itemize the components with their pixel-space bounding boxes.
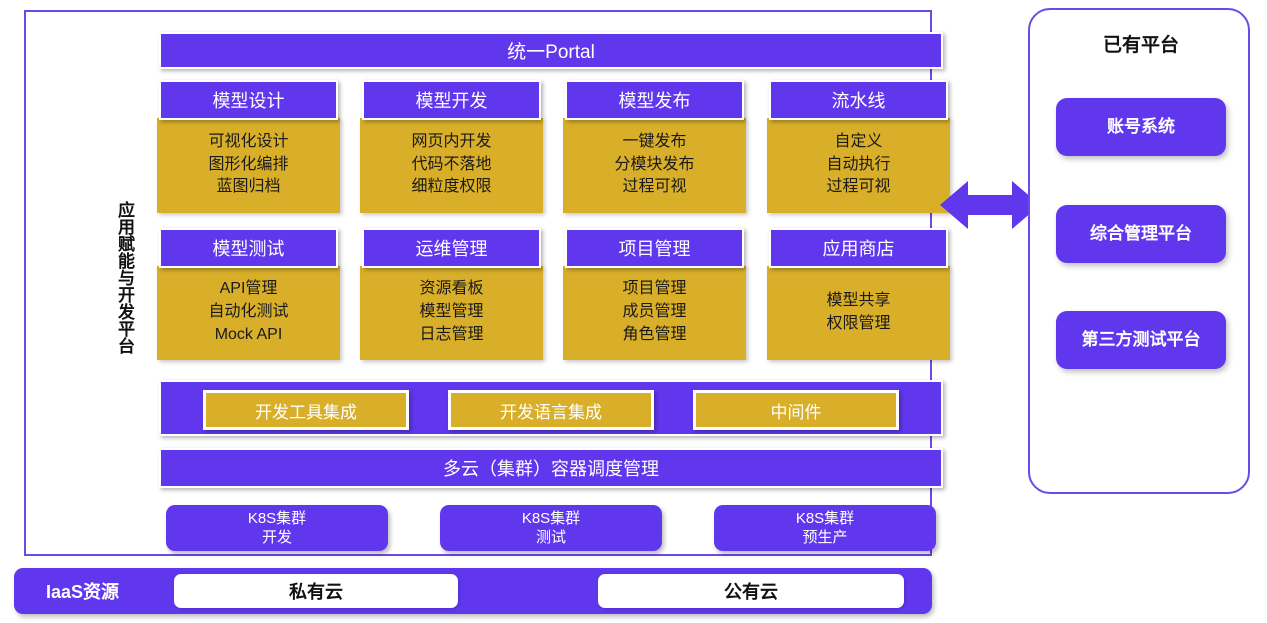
k8s-line2: 测试 bbox=[536, 528, 566, 548]
card-item: 过程可视 bbox=[622, 176, 686, 199]
iaas-private-cloud[interactable]: 私有云 bbox=[174, 574, 458, 608]
iaas-resource-bar: IaaS资源 私有云 公有云 bbox=[14, 568, 932, 614]
card-ops-management[interactable]: 运维管理 资源看板 模型管理 日志管理 bbox=[362, 228, 541, 360]
existing-platform-title: 已有平台 bbox=[1030, 30, 1252, 57]
k8s-line1: K8S集群 bbox=[522, 509, 580, 529]
card-item: 模型共享 bbox=[826, 290, 890, 313]
k8s-cluster-dev[interactable]: K8S集群 开发 bbox=[166, 505, 388, 551]
card-app-store[interactable]: 应用商店 模型共享 权限管理 bbox=[769, 228, 948, 360]
card-body: 一键发布 分模块发布 过程可视 bbox=[563, 118, 746, 213]
card-body: 自定义 自动执行 过程可视 bbox=[767, 118, 950, 213]
card-item: 权限管理 bbox=[826, 313, 890, 336]
k8s-line1: K8S集群 bbox=[248, 509, 306, 529]
card-project-management[interactable]: 项目管理 项目管理 成员管理 角色管理 bbox=[565, 228, 744, 360]
card-title: 模型设计 bbox=[159, 80, 338, 120]
card-title: 模型发布 bbox=[565, 80, 744, 120]
card-item: 网页内开发 bbox=[411, 131, 491, 154]
unified-portal-bar[interactable]: 统一Portal bbox=[159, 32, 943, 69]
card-item: 角色管理 bbox=[622, 324, 686, 347]
card-model-release[interactable]: 模型发布 一键发布 分模块发布 过程可视 bbox=[565, 80, 744, 213]
card-title: 应用商店 bbox=[769, 228, 948, 268]
card-item: 日志管理 bbox=[419, 324, 483, 347]
platform-frame: 应用赋能与开发平台 统一Portal 模型设计 可视化设计 图形化编排 蓝图归档… bbox=[24, 10, 932, 556]
card-title: 运维管理 bbox=[362, 228, 541, 268]
card-item: 自动化测试 bbox=[208, 301, 288, 324]
card-item: 自定义 bbox=[834, 131, 882, 154]
card-item: 模型管理 bbox=[419, 301, 483, 324]
multicloud-scheduling-bar[interactable]: 多云（集群）容器调度管理 bbox=[159, 448, 943, 488]
card-item: 过程可视 bbox=[826, 176, 890, 199]
integration-middleware[interactable]: 中间件 bbox=[693, 390, 899, 430]
card-item: 资源看板 bbox=[419, 278, 483, 301]
card-model-test[interactable]: 模型测试 API管理 自动化测试 Mock API bbox=[159, 228, 338, 360]
card-item: 代码不落地 bbox=[411, 154, 491, 177]
existing-platform-management[interactable]: 综合管理平台 bbox=[1056, 205, 1226, 263]
card-model-development[interactable]: 模型开发 网页内开发 代码不落地 细粒度权限 bbox=[362, 80, 541, 213]
card-body: 资源看板 模型管理 日志管理 bbox=[360, 266, 543, 360]
existing-platform-third-party-test[interactable]: 第三方测试平台 bbox=[1056, 311, 1226, 369]
card-body: 网页内开发 代码不落地 细粒度权限 bbox=[360, 118, 543, 213]
k8s-cluster-preprod[interactable]: K8S集群 预生产 bbox=[714, 505, 936, 551]
integration-dev-languages[interactable]: 开发语言集成 bbox=[448, 390, 654, 430]
integration-dev-tools[interactable]: 开发工具集成 bbox=[203, 390, 409, 430]
card-item: 分模块发布 bbox=[614, 154, 694, 177]
card-title: 流水线 bbox=[769, 80, 948, 120]
existing-platform-account-system[interactable]: 账号系统 bbox=[1056, 98, 1226, 156]
k8s-cluster-test[interactable]: K8S集群 测试 bbox=[440, 505, 662, 551]
architecture-diagram: 应用赋能与开发平台 统一Portal 模型设计 可视化设计 图形化编排 蓝图归档… bbox=[0, 0, 1267, 623]
card-item: 一键发布 bbox=[622, 131, 686, 154]
card-item: 成员管理 bbox=[622, 301, 686, 324]
card-item: Mock API bbox=[215, 324, 283, 347]
integration-band: 开发工具集成 开发语言集成 中间件 bbox=[159, 380, 943, 436]
card-pipeline[interactable]: 流水线 自定义 自动执行 过程可视 bbox=[769, 80, 948, 213]
platform-side-label: 应用赋能与开发平台 bbox=[90, 172, 134, 382]
card-item: 项目管理 bbox=[622, 278, 686, 301]
card-item: 细粒度权限 bbox=[411, 176, 491, 199]
iaas-label: IaaS资源 bbox=[46, 568, 119, 614]
double-arrow-icon bbox=[940, 176, 1040, 234]
card-body: 项目管理 成员管理 角色管理 bbox=[563, 266, 746, 360]
k8s-line1: K8S集群 bbox=[796, 509, 854, 529]
card-item: 蓝图归档 bbox=[216, 176, 280, 199]
existing-platform-panel: 已有平台 账号系统 综合管理平台 第三方测试平台 bbox=[1028, 8, 1250, 494]
iaas-public-cloud[interactable]: 公有云 bbox=[598, 574, 904, 608]
k8s-line2: 开发 bbox=[262, 528, 292, 548]
k8s-line2: 预生产 bbox=[802, 528, 847, 548]
card-body: API管理 自动化测试 Mock API bbox=[157, 266, 340, 360]
card-model-design[interactable]: 模型设计 可视化设计 图形化编排 蓝图归档 bbox=[159, 80, 338, 213]
card-item: 图形化编排 bbox=[208, 154, 288, 177]
card-title: 模型测试 bbox=[159, 228, 338, 268]
card-item: 自动执行 bbox=[826, 154, 890, 177]
card-body: 可视化设计 图形化编排 蓝图归档 bbox=[157, 118, 340, 213]
card-item: 可视化设计 bbox=[208, 131, 288, 154]
card-title: 项目管理 bbox=[565, 228, 744, 268]
card-body: 模型共享 权限管理 bbox=[767, 266, 950, 360]
card-item: API管理 bbox=[220, 278, 278, 301]
card-title: 模型开发 bbox=[362, 80, 541, 120]
